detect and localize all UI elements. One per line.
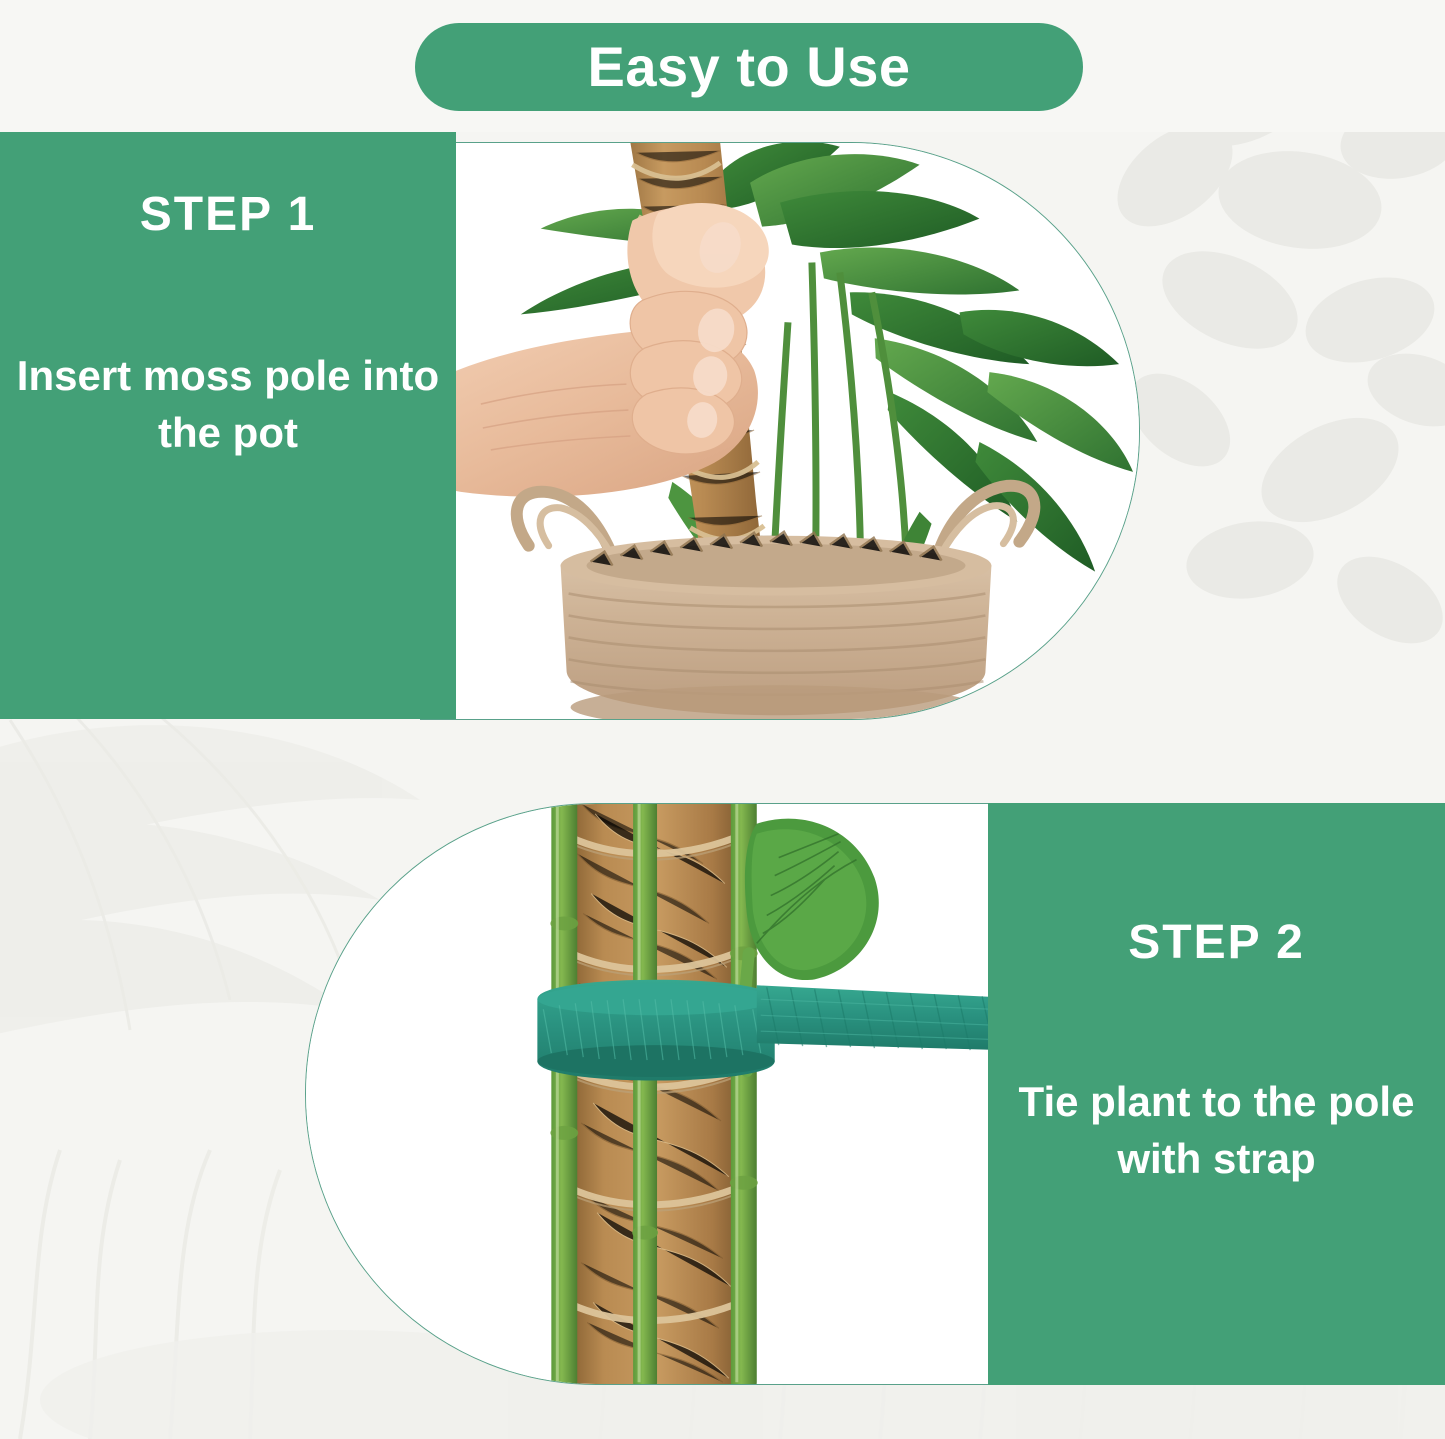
step-2-label: STEP 2 bbox=[1128, 915, 1305, 970]
step-1-row: STEP 1 Insert moss pole into the pot bbox=[0, 132, 1445, 732]
title-band: Easy to Use bbox=[0, 0, 1445, 132]
step-1-photo-panel bbox=[420, 142, 1140, 720]
step-2-photo-panel bbox=[305, 803, 1040, 1385]
step-2-text-panel: STEP 2 Tie plant to the pole with strap bbox=[988, 803, 1445, 1385]
coir-moss-pole bbox=[571, 804, 745, 1384]
page-title: Easy to Use bbox=[588, 39, 911, 95]
step-2-photo bbox=[306, 804, 1039, 1384]
step-1-description: Insert moss pole into the pot bbox=[13, 348, 443, 461]
step-1-photo bbox=[421, 143, 1139, 719]
title-pill: Easy to Use bbox=[415, 23, 1083, 111]
step-1-text-panel: STEP 1 Insert moss pole into the pot bbox=[0, 132, 456, 719]
step-2-description: Tie plant to the pole with strap bbox=[994, 1074, 1439, 1187]
step-2-row: STEP 2 Tie plant to the pole with strap bbox=[0, 795, 1445, 1395]
step-1-label: STEP 1 bbox=[140, 187, 317, 242]
